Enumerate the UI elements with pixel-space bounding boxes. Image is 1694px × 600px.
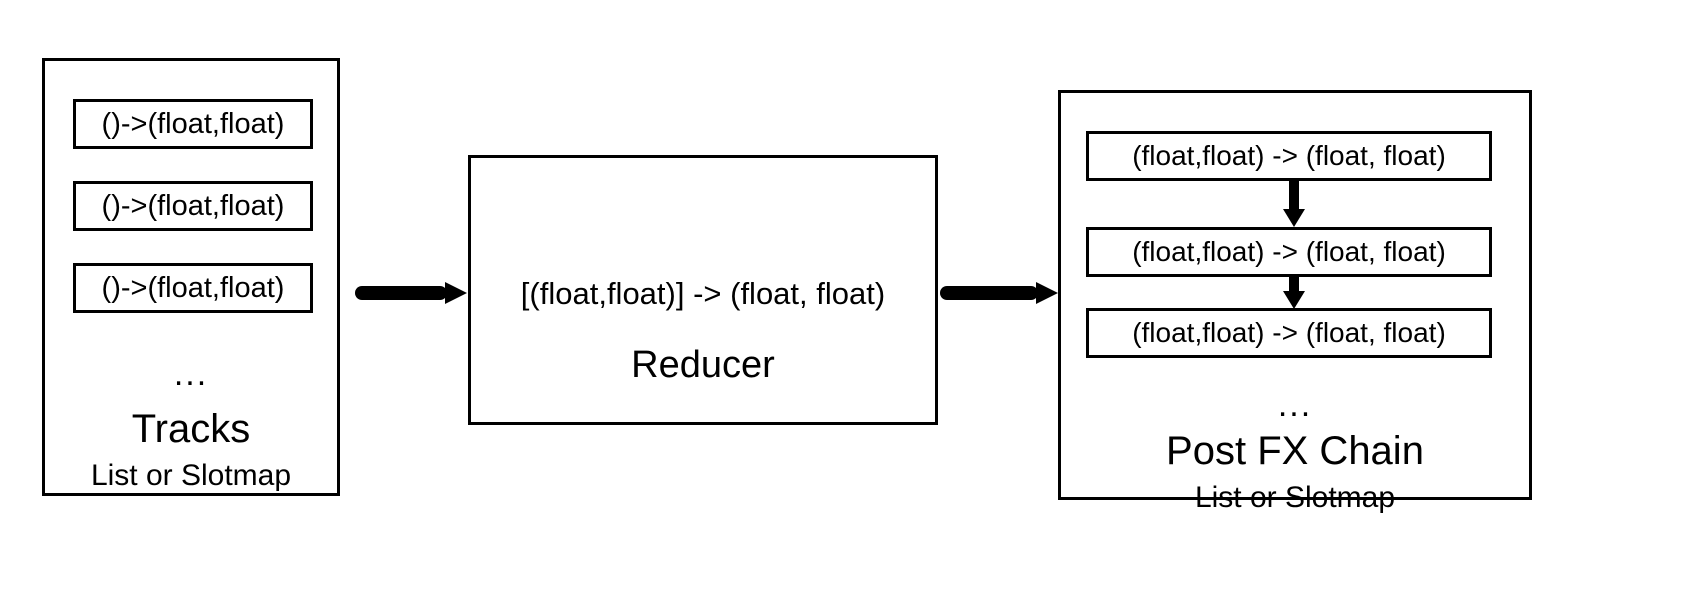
- arrow-head: [1283, 291, 1305, 309]
- arrow-reducer-to-fx-icon: [940, 282, 1058, 304]
- tracks-ellipsis: ...: [45, 357, 337, 391]
- arrow-shaft: [940, 286, 1038, 300]
- track-signature-label: ()->(float,float): [102, 192, 285, 221]
- fx-chain-arrow-down-icon: [1289, 277, 1299, 308]
- tracks-subcaption: List or Slotmap: [45, 461, 337, 491]
- arrow-tracks-to-reducer-icon: [355, 282, 467, 304]
- arrow-shaft: [355, 286, 447, 300]
- fx-item[interactable]: (float,float) -> (float, float): [1086, 308, 1492, 358]
- diagram-canvas: ()->(float,float) ()->(float,float) ()->…: [0, 0, 1694, 600]
- reducer-panel: [(float,float)] -> (float, float) Reduce…: [468, 155, 938, 425]
- fx-item[interactable]: (float,float) -> (float, float): [1086, 227, 1492, 277]
- arrow-shaft: [1289, 181, 1299, 211]
- fx-ellipsis: ...: [1061, 388, 1529, 422]
- track-item[interactable]: ()->(float,float): [73, 263, 313, 313]
- fx-item[interactable]: (float,float) -> (float, float): [1086, 131, 1492, 181]
- reducer-title: Reducer: [471, 344, 935, 387]
- track-item[interactable]: ()->(float,float): [73, 99, 313, 149]
- track-signature-label: ()->(float,float): [102, 274, 285, 303]
- fx-signature-label: (float,float) -> (float, float): [1132, 319, 1446, 347]
- track-signature-label: ()->(float,float): [102, 110, 285, 139]
- fx-chain-arrow-down-icon: [1289, 181, 1299, 227]
- fx-signature-label: (float,float) -> (float, float): [1132, 142, 1446, 170]
- tracks-caption: Tracks: [45, 409, 337, 449]
- arrow-head: [1036, 282, 1058, 304]
- fx-caption: Post FX Chain: [1061, 431, 1529, 471]
- reducer-signature-label: [(float,float)] -> (float, float): [471, 276, 935, 312]
- arrow-head: [445, 282, 467, 304]
- track-item[interactable]: ()->(float,float): [73, 181, 313, 231]
- fx-signature-label: (float,float) -> (float, float): [1132, 238, 1446, 266]
- arrow-head: [1283, 209, 1305, 227]
- fx-subcaption: List or Slotmap: [1061, 483, 1529, 513]
- post-fx-chain-panel: (float,float) -> (float, float) (float,f…: [1058, 90, 1532, 500]
- tracks-panel: ()->(float,float) ()->(float,float) ()->…: [42, 58, 340, 496]
